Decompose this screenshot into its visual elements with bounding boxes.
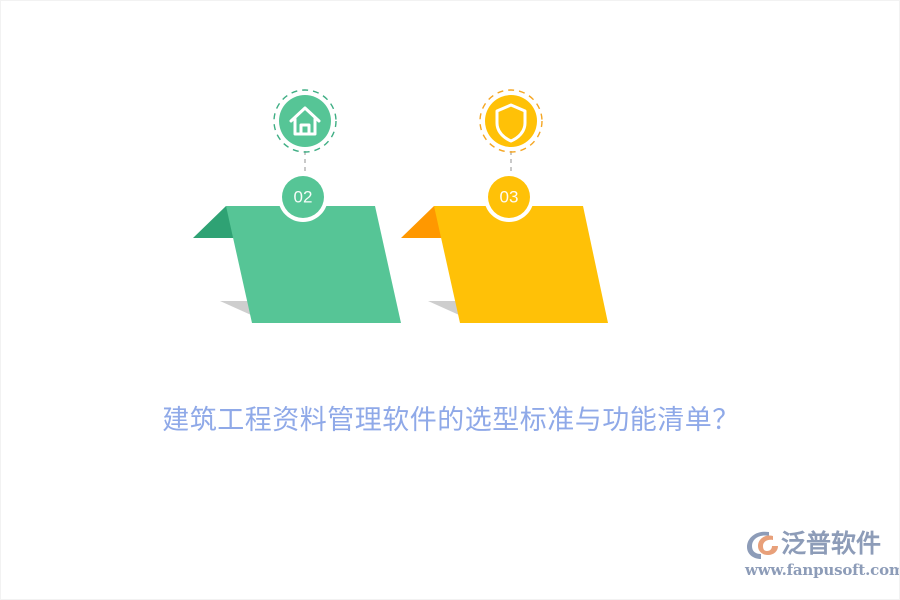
- step-group-02: 02: [193, 90, 401, 323]
- step-number-02: 02: [294, 188, 313, 207]
- icon-bubble-03[interactable]: [485, 95, 537, 147]
- page-title: 建筑工程资料管理软件的选型标准与功能清单？: [1, 401, 900, 441]
- slide-canvas: 02 03: [0, 0, 900, 600]
- step-number-03: 03: [500, 188, 519, 207]
- logo-row: 泛普软件: [745, 525, 885, 563]
- banner-shape-03: [434, 206, 608, 323]
- logo-brand-text: 泛普软件: [781, 527, 881, 561]
- logo-url-text: www.fanpusoft.com: [745, 561, 885, 579]
- fanpu-logo-mark: [745, 527, 779, 561]
- watermark-logo: 泛普软件 www.fanpusoft.com: [745, 525, 885, 587]
- infographic-stage: 02 03: [1, 1, 900, 371]
- icon-bubble-02[interactable]: [279, 95, 331, 147]
- banner-shape-02: [226, 206, 401, 323]
- step-group-03: 03: [401, 90, 608, 323]
